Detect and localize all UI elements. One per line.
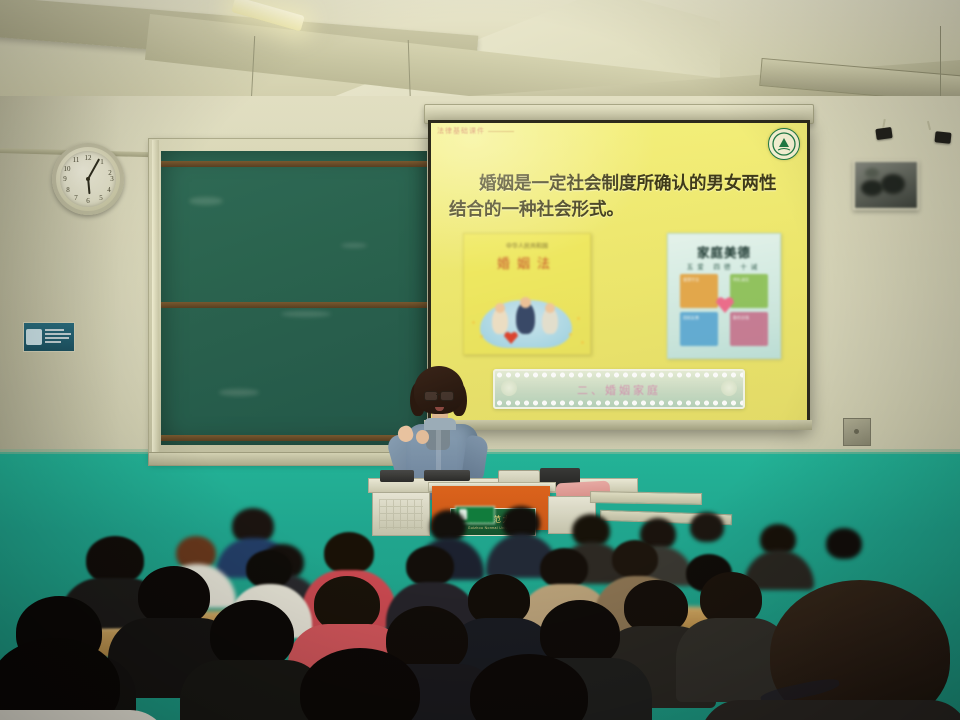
clock-numeral: 11 (71, 155, 81, 165)
family-virtue-title: 家庭美德 (668, 242, 780, 261)
wall-framed-photo (853, 160, 919, 210)
lecturer-collar (424, 418, 456, 430)
chalkboard-side-track (152, 140, 159, 456)
marriage-law-illustration (480, 300, 572, 348)
audience (0, 488, 960, 720)
safety-icon (26, 329, 42, 345)
family-virtue-subtitle: 五爱 四德 十诫 (668, 261, 780, 271)
clock-numeral: 12 (83, 153, 93, 163)
audience-shoulders-front (700, 700, 960, 720)
lecturer-right-hand (416, 430, 429, 444)
heart-icon (716, 296, 734, 313)
family-virtue-book-cover: 家庭美德 五爱 四德 十诫 爱国守法 明礼诚信 团结友善 勤俭自强 (667, 233, 781, 359)
hanging-wire-c (940, 26, 941, 96)
audience-head (540, 548, 588, 588)
clock-center-pin (86, 177, 90, 181)
audience-head (86, 536, 144, 584)
slide-banner-text: 二、婚姻家庭 (495, 382, 743, 398)
slide-section-banner: 二、婚姻家庭 (493, 369, 745, 409)
audience-head (138, 566, 210, 626)
clock-numeral: 9 (60, 174, 70, 184)
clock-hour-hand (87, 179, 91, 194)
banner-dot-border-top (495, 372, 743, 378)
clock-numeral: 3 (107, 174, 117, 184)
glasses-bridge (436, 394, 440, 395)
clock-numeral: 10 (62, 164, 72, 174)
audience-head (690, 512, 724, 542)
ceiling-camera-right (934, 131, 951, 144)
lecture-hall-photo: 12 1 2 3 4 5 6 7 8 9 10 11 (0, 0, 960, 720)
audience-head (612, 540, 658, 578)
audience-head (246, 550, 292, 588)
audience-shoulders-front (0, 710, 170, 720)
wall-safety-notice (23, 322, 75, 352)
banner-dot-border-bottom (495, 400, 743, 406)
glasses-icon (440, 391, 454, 401)
speaker-dot (854, 429, 859, 434)
clock-face: 12 1 2 3 4 5 6 7 8 9 10 11 (60, 151, 116, 207)
audience-head (826, 528, 862, 559)
keyboard (424, 470, 470, 481)
wall-speaker-box (843, 418, 871, 446)
chalkboard-rail-top (161, 161, 427, 167)
screen-glare (428, 120, 657, 274)
audience-head-front-right (770, 580, 950, 720)
audience-head (324, 532, 374, 574)
chalkboard-rail-mid (161, 302, 427, 308)
clock-numeral: 6 (83, 196, 93, 206)
wall-clock: 12 1 2 3 4 5 6 7 8 9 10 11 (52, 143, 124, 215)
audience-head (406, 546, 454, 586)
university-seal-logo (768, 128, 800, 160)
clock-numeral: 5 (96, 193, 106, 203)
virtue-quadrant-2: 明礼诚信 (730, 274, 768, 308)
ceiling-camera-left (875, 127, 892, 140)
clock-numeral: 8 (63, 185, 73, 195)
glasses-icon (424, 391, 438, 401)
virtue-quadrant-4: 勤俭自强 (730, 312, 768, 346)
desk-equipment-box (380, 470, 414, 482)
virtue-quadrant-3: 团结友善 (680, 312, 718, 346)
virtue-quadrant-1: 爱国守法 (680, 274, 718, 308)
